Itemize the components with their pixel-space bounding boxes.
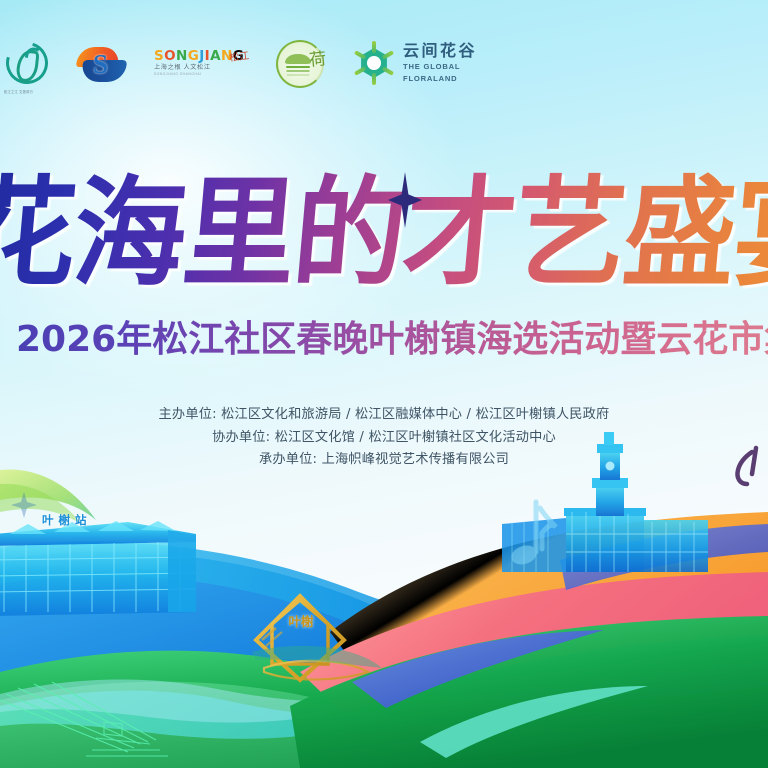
wm-letter: A — [210, 48, 221, 64]
seal-brush-character: 荷 — [308, 44, 328, 71]
partner-logo-bar: 松江之江 文旅风行 S SONGJIANG 上海之根 人文松江 SONGJIAN… — [0, 34, 768, 92]
poster-headline: 花海里的才艺盛宴 — [0, 164, 768, 304]
field-pink — [300, 572, 768, 714]
yexie-station-building — [0, 521, 196, 616]
logo-songjiang-culture-tourism: 松江之江 文旅风行 — [4, 35, 50, 91]
credit-line-co-host: 协办单位: 松江区文化馆 / 松江区叶榭镇社区文化活动中心 — [0, 427, 768, 450]
logo-green-landscape-seal: 荷 — [276, 35, 326, 91]
wm-letter: N — [176, 48, 188, 64]
media-center-swoosh-icon: S — [76, 40, 128, 86]
field-green — [290, 616, 768, 768]
landscape-seal-icon: 荷 — [276, 39, 326, 87]
field-indigo — [352, 630, 604, 708]
music-note-light-icon — [509, 502, 556, 568]
yexie-gate-structure — [256, 596, 368, 680]
songjiang-seal-mark: 松江 — [228, 47, 250, 64]
fishing-boat-rigging — [0, 682, 168, 756]
media-center-letter: S — [93, 49, 108, 80]
logo-global-floraland: 云间花谷 THE GLOBAL FLORALAND — [352, 35, 477, 91]
credit-line-host: 主办单位: 松江区文化和旅游局 / 松江区融媒体中心 / 松江区叶榭镇人民政府 — [0, 404, 768, 427]
floraland-title-cn: 云间花谷 — [403, 43, 477, 59]
songjiang-tagline-cn: 上海之根 人文松江 — [154, 65, 244, 72]
gate-name-label: 叶榭 — [288, 613, 314, 630]
logo-songjiang-wordmark: SONGJIANG 上海之根 人文松江 SONGJIANG SHANGHAI 松… — [154, 35, 250, 91]
floraland-snowflake-icon — [352, 41, 396, 85]
organizer-credits: 主办单位: 松江区文化和旅游局 / 松江区融媒体中心 / 松江区叶榭镇人民政府 … — [0, 404, 768, 472]
mint-stream — [0, 691, 404, 739]
logo-caption-culture-tourism: 松江之江 文旅风行 — [4, 89, 33, 94]
field-teal — [420, 686, 648, 758]
floraland-title-en-line1: THE GLOBAL — [403, 62, 477, 71]
wm-letter: O — [164, 48, 176, 64]
poster-subtitle: 2026年松江社区春晚叶榭镇海选活动暨云花市集 — [16, 318, 768, 362]
logo-songjiang-media-center: S — [76, 35, 128, 91]
field-orange — [330, 512, 768, 672]
river-band — [0, 551, 768, 768]
scenery-illustration — [0, 0, 768, 768]
poster-root: 松江之江 文旅风行 S SONGJIANG 上海之根 人文松江 SONGJIAN… — [0, 0, 768, 768]
songjiang-tagline-en: SONGJIANG SHANGHAI — [154, 73, 244, 77]
credit-line-executor: 承办单位: 上海帜峰视觉艺术传播有限公司 — [0, 449, 768, 472]
culture-tourism-roundel-icon — [4, 40, 50, 86]
wm-letter: G — [188, 48, 199, 64]
meadow-left — [0, 651, 768, 768]
wm-letter: S — [154, 48, 164, 64]
station-name-label: 叶榭站 — [42, 512, 92, 528]
floraland-title-en-line2: FLORALAND — [403, 74, 477, 83]
